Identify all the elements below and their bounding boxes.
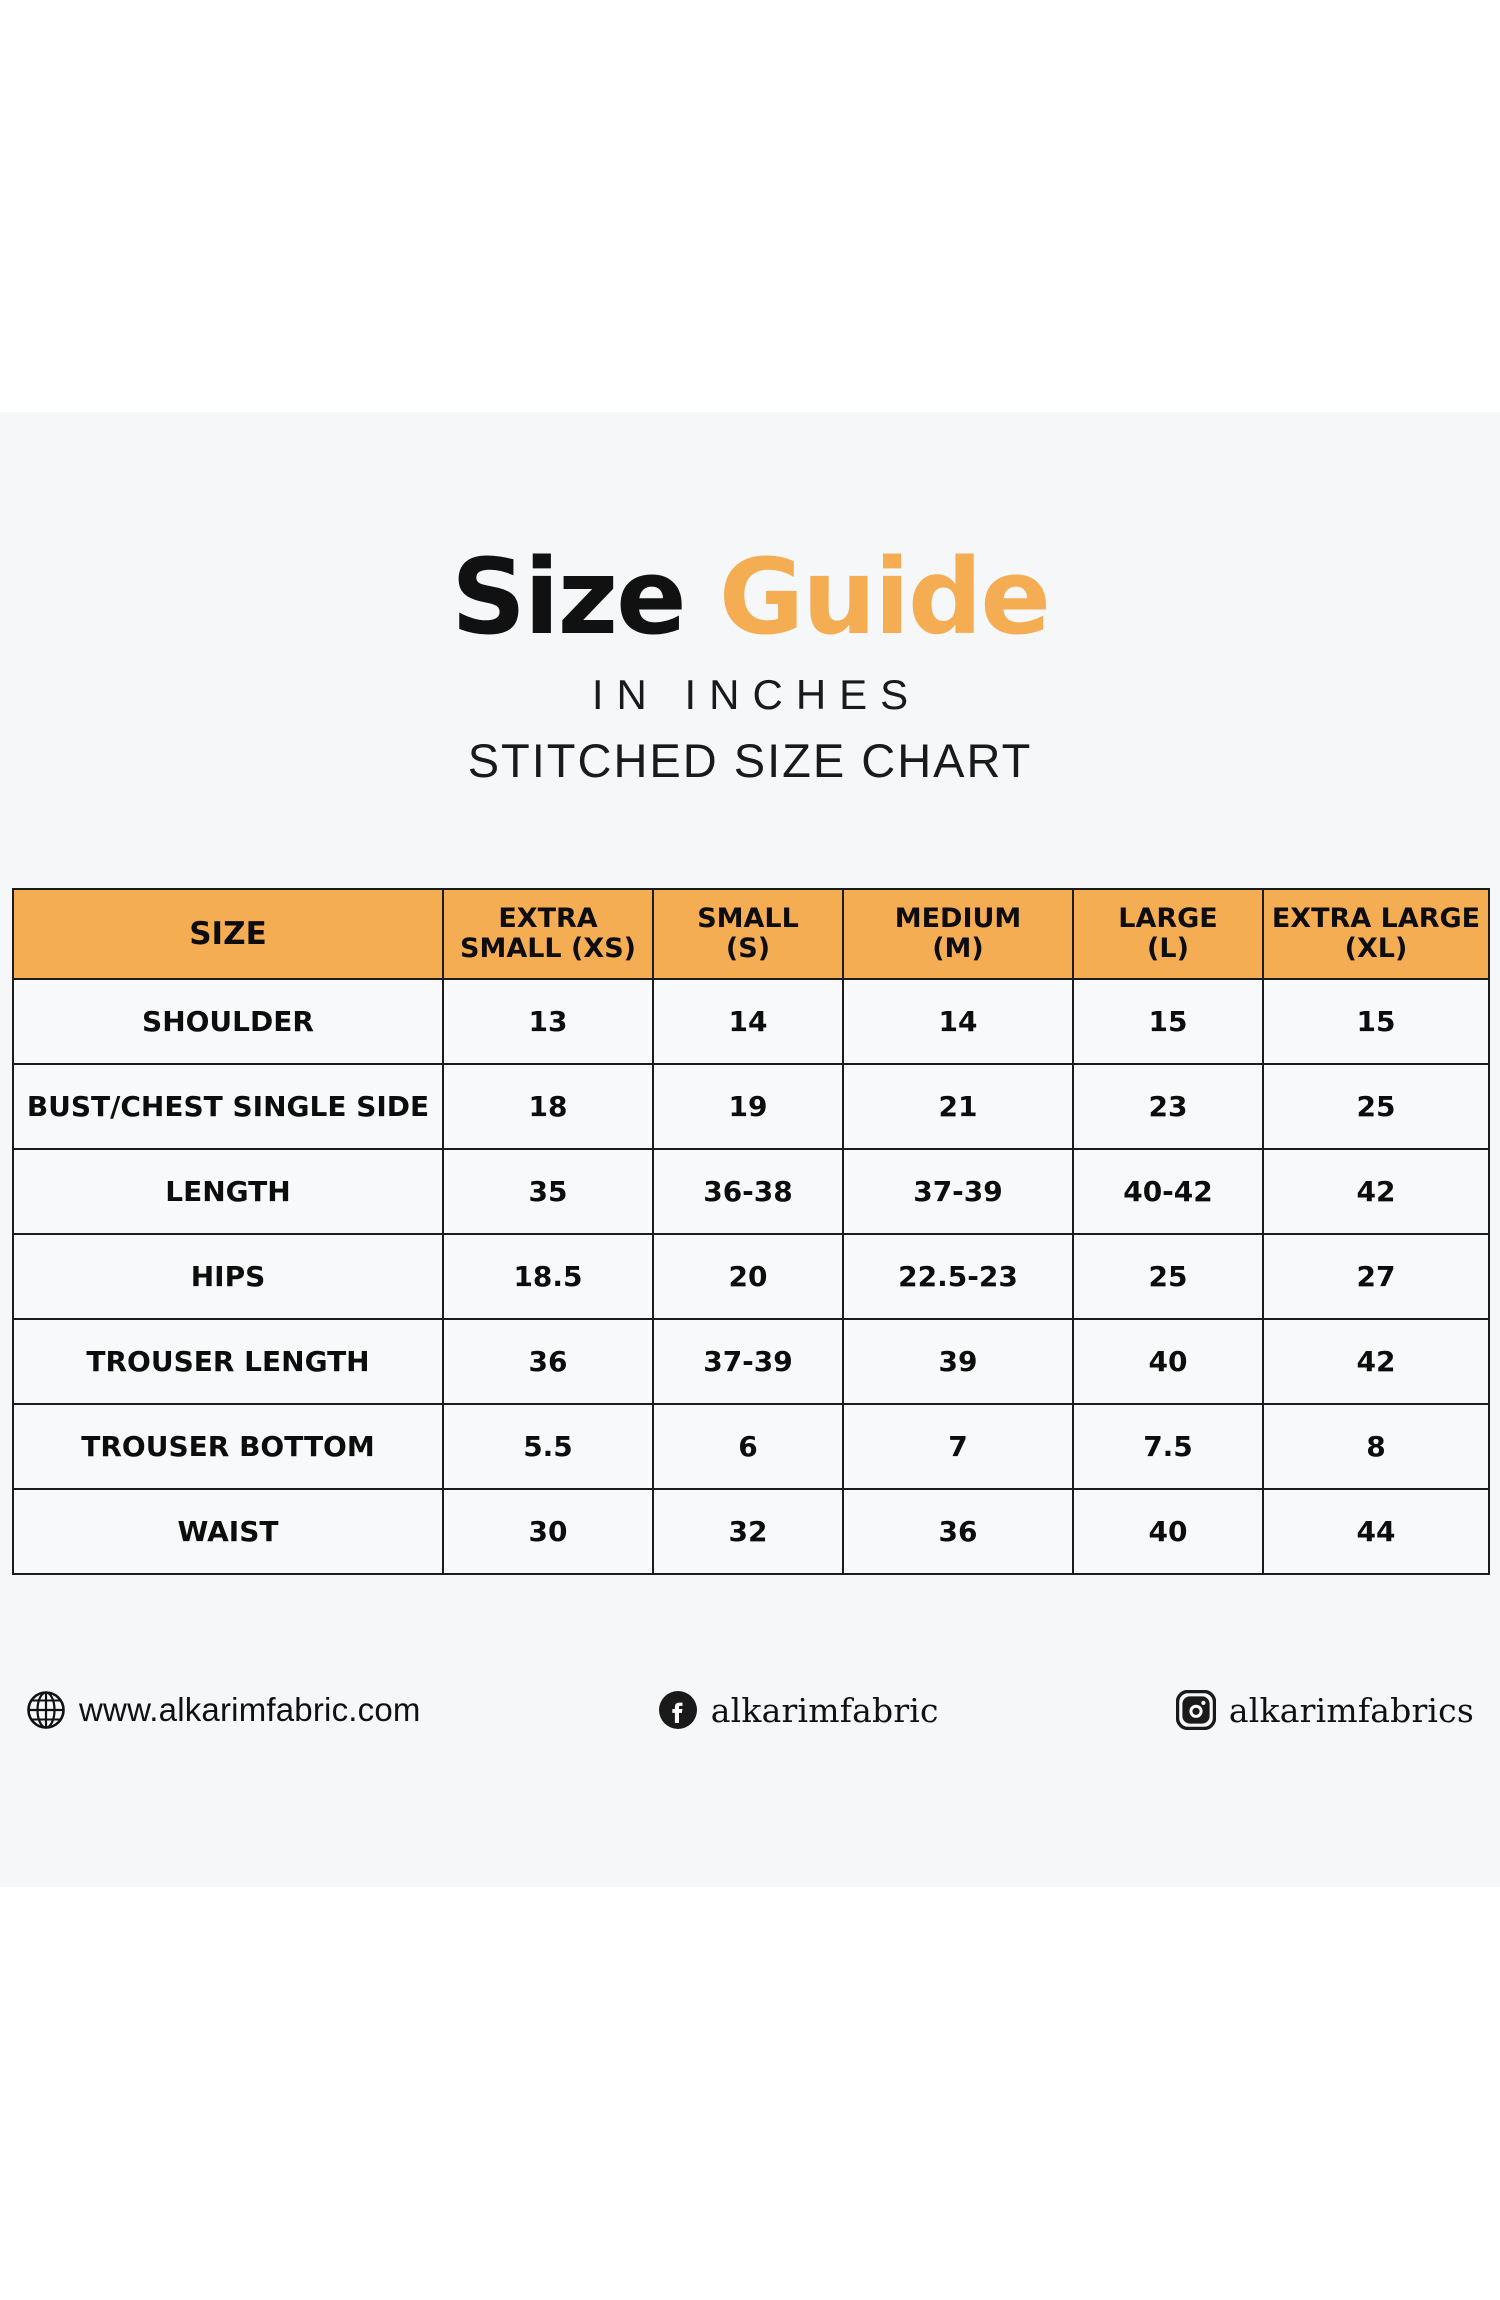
- table-row: BUST/CHEST SINGLE SIDE 18 19 21 23 25: [13, 1064, 1489, 1149]
- cell-waist-l: 40: [1073, 1489, 1263, 1574]
- cell-trouser-length-xs: 36: [443, 1319, 653, 1404]
- row-label-waist: WAIST: [13, 1489, 443, 1574]
- column-header-m-line1: MEDIUM: [895, 903, 1022, 934]
- title-block: Size Guide IN INCHES STITCHED SIZE CHART: [0, 545, 1500, 788]
- subtitle-in-inches: IN INCHES: [0, 671, 1500, 719]
- column-header-xl-line2: (XL): [1345, 933, 1408, 964]
- row-label-trouser-length: TROUSER LENGTH: [13, 1319, 443, 1404]
- cell-trouser-length-m: 39: [843, 1319, 1073, 1404]
- table-row: TROUSER LENGTH 36 37-39 39 40 42: [13, 1319, 1489, 1404]
- table-row: SHOULDER 13 14 14 15 15: [13, 979, 1489, 1064]
- size-chart-table: SIZE EXTRA SMALL (XS) SMALL (S) MEDIUM (…: [12, 888, 1490, 1575]
- column-header-xs-line2: SMALL (XS): [460, 933, 636, 964]
- subtitle-stitched-size-chart: STITCHED SIZE CHART: [0, 733, 1500, 788]
- table-body: SHOULDER 13 14 14 15 15 BUST/CHEST SINGL…: [13, 979, 1489, 1574]
- cell-bust-l: 23: [1073, 1064, 1263, 1149]
- cell-waist-m: 36: [843, 1489, 1073, 1574]
- column-header-xs: EXTRA SMALL (XS): [443, 889, 653, 979]
- page-title: Size Guide: [0, 545, 1500, 649]
- table-row: WAIST 30 32 36 40 44: [13, 1489, 1489, 1574]
- size-guide-page: Size Guide IN INCHES STITCHED SIZE CHART…: [0, 0, 1500, 2300]
- cell-hips-xl: 27: [1263, 1234, 1489, 1319]
- cell-bust-s: 19: [653, 1064, 843, 1149]
- cell-hips-l: 25: [1073, 1234, 1263, 1319]
- cell-trouser-bottom-m: 7: [843, 1404, 1073, 1489]
- table-row: HIPS 18.5 20 22.5-23 25 27: [13, 1234, 1489, 1319]
- table-header: SIZE EXTRA SMALL (XS) SMALL (S) MEDIUM (…: [13, 889, 1489, 979]
- cell-trouser-bottom-xl: 8: [1263, 1404, 1489, 1489]
- column-header-m-line2: (M): [932, 933, 984, 964]
- column-header-size-line1: SIZE: [189, 916, 267, 952]
- instagram-icon: [1176, 1690, 1216, 1730]
- footer-website-label: www.alkarimfabric.com: [79, 1691, 421, 1729]
- footer-instagram-label: alkarimfabrics: [1229, 1691, 1474, 1730]
- cell-length-m: 37-39: [843, 1149, 1073, 1234]
- column-header-size: SIZE: [13, 889, 443, 979]
- cell-length-xl: 42: [1263, 1149, 1489, 1234]
- title-word-size: Size: [451, 536, 685, 658]
- footer-website[interactable]: www.alkarimfabric.com: [26, 1690, 421, 1730]
- column-header-m: MEDIUM (M): [843, 889, 1073, 979]
- table-row: LENGTH 35 36-38 37-39 40-42 42: [13, 1149, 1489, 1234]
- table-header-row: SIZE EXTRA SMALL (XS) SMALL (S) MEDIUM (…: [13, 889, 1489, 979]
- cell-shoulder-xs: 13: [443, 979, 653, 1064]
- cell-length-l: 40-42: [1073, 1149, 1263, 1234]
- cell-waist-xs: 30: [443, 1489, 653, 1574]
- cell-shoulder-xl: 15: [1263, 979, 1489, 1064]
- cell-hips-s: 20: [653, 1234, 843, 1319]
- cell-bust-xl: 25: [1263, 1064, 1489, 1149]
- column-header-l: LARGE (L): [1073, 889, 1263, 979]
- cell-trouser-length-l: 40: [1073, 1319, 1263, 1404]
- cell-trouser-length-xl: 42: [1263, 1319, 1489, 1404]
- cell-length-xs: 35: [443, 1149, 653, 1234]
- title-word-guide: [685, 536, 719, 658]
- cell-trouser-length-s: 37-39: [653, 1319, 843, 1404]
- column-header-xl-line1: EXTRA LARGE: [1272, 903, 1480, 934]
- footer-instagram[interactable]: alkarimfabrics: [1176, 1690, 1474, 1730]
- size-chart-table-wrapper: SIZE EXTRA SMALL (XS) SMALL (S) MEDIUM (…: [12, 888, 1488, 1575]
- column-header-l-line2: (L): [1147, 933, 1189, 964]
- footer-facebook-label: alkarimfabric: [711, 1691, 939, 1730]
- cell-hips-xs: 18.5: [443, 1234, 653, 1319]
- cell-bust-xs: 18: [443, 1064, 653, 1149]
- cell-waist-s: 32: [653, 1489, 843, 1574]
- cell-trouser-bottom-xs: 5.5: [443, 1404, 653, 1489]
- cell-shoulder-s: 14: [653, 979, 843, 1064]
- footer-facebook[interactable]: alkarimfabric: [658, 1690, 939, 1730]
- globe-icon: [26, 1690, 66, 1730]
- footer: www.alkarimfabric.com alkarimfabric: [12, 1690, 1488, 1730]
- cell-length-s: 36-38: [653, 1149, 843, 1234]
- column-header-s: SMALL (S): [653, 889, 843, 979]
- column-header-s-line2: (S): [726, 933, 770, 964]
- column-header-s-line1: SMALL: [697, 903, 799, 934]
- cell-hips-m: 22.5-23: [843, 1234, 1073, 1319]
- row-label-length: LENGTH: [13, 1149, 443, 1234]
- cell-trouser-bottom-s: 6: [653, 1404, 843, 1489]
- row-label-hips: HIPS: [13, 1234, 443, 1319]
- row-label-bust-chest-single-side: BUST/CHEST SINGLE SIDE: [13, 1064, 443, 1149]
- row-label-trouser-bottom: TROUSER BOTTOM: [13, 1404, 443, 1489]
- cell-trouser-bottom-l: 7.5: [1073, 1404, 1263, 1489]
- column-header-l-line1: LARGE: [1118, 903, 1218, 934]
- column-header-xl: EXTRA LARGE (XL): [1263, 889, 1489, 979]
- column-header-xs-line1: EXTRA: [498, 903, 597, 934]
- cell-bust-m: 21: [843, 1064, 1073, 1149]
- facebook-icon: [658, 1690, 698, 1730]
- cell-shoulder-m: 14: [843, 979, 1073, 1064]
- title-word-guide-text: Guide: [719, 536, 1049, 658]
- cell-shoulder-l: 15: [1073, 979, 1263, 1064]
- row-label-shoulder: SHOULDER: [13, 979, 443, 1064]
- table-row: TROUSER BOTTOM 5.5 6 7 7.5 8: [13, 1404, 1489, 1489]
- cell-waist-xl: 44: [1263, 1489, 1489, 1574]
